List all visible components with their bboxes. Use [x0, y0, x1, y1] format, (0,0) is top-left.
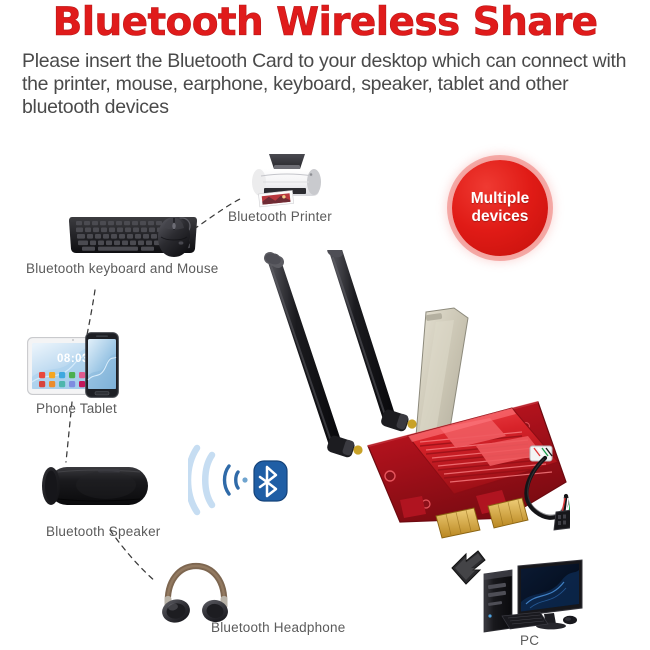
page-title: Bluetooth Wireless Share — [0, 2, 650, 44]
label-headphone: Bluetooth Headphone — [211, 620, 345, 635]
antenna-1-base — [326, 434, 363, 458]
label-phone-tablet: Phone Tablet — [36, 401, 117, 416]
badge-line-2: devices — [472, 208, 529, 225]
label-printer: Bluetooth Printer — [228, 209, 332, 224]
pc-icon — [478, 558, 588, 634]
page-subtitle: Please insert the Bluetooth Card to your… — [22, 50, 628, 119]
label-keyboard-mouse: Bluetooth keyboard and Mouse — [26, 261, 218, 276]
antenna-1 — [264, 252, 336, 446]
bluetooth-printer-icon — [243, 152, 331, 214]
phone-icon — [85, 332, 119, 398]
antenna-2-base — [380, 408, 417, 432]
header: Bluetooth Wireless Share Please insert t… — [0, 0, 650, 119]
infographic-canvas: Bluetooth Wireless Share Please insert t… — [0, 0, 650, 650]
antenna-2 — [326, 250, 390, 420]
bluetooth-mouse-icon — [155, 215, 193, 259]
label-speaker: Bluetooth Speaker — [46, 524, 160, 539]
badge-label: Multiple devices — [471, 190, 530, 226]
bluetooth-headphone-icon — [160, 562, 232, 624]
pcie-bluetooth-card — [240, 250, 570, 560]
multiple-devices-badge: Multiple devices — [452, 160, 548, 256]
badge-line-1: Multiple — [471, 190, 530, 207]
bluetooth-speaker-icon — [36, 465, 156, 507]
label-pc: PC — [520, 633, 539, 648]
